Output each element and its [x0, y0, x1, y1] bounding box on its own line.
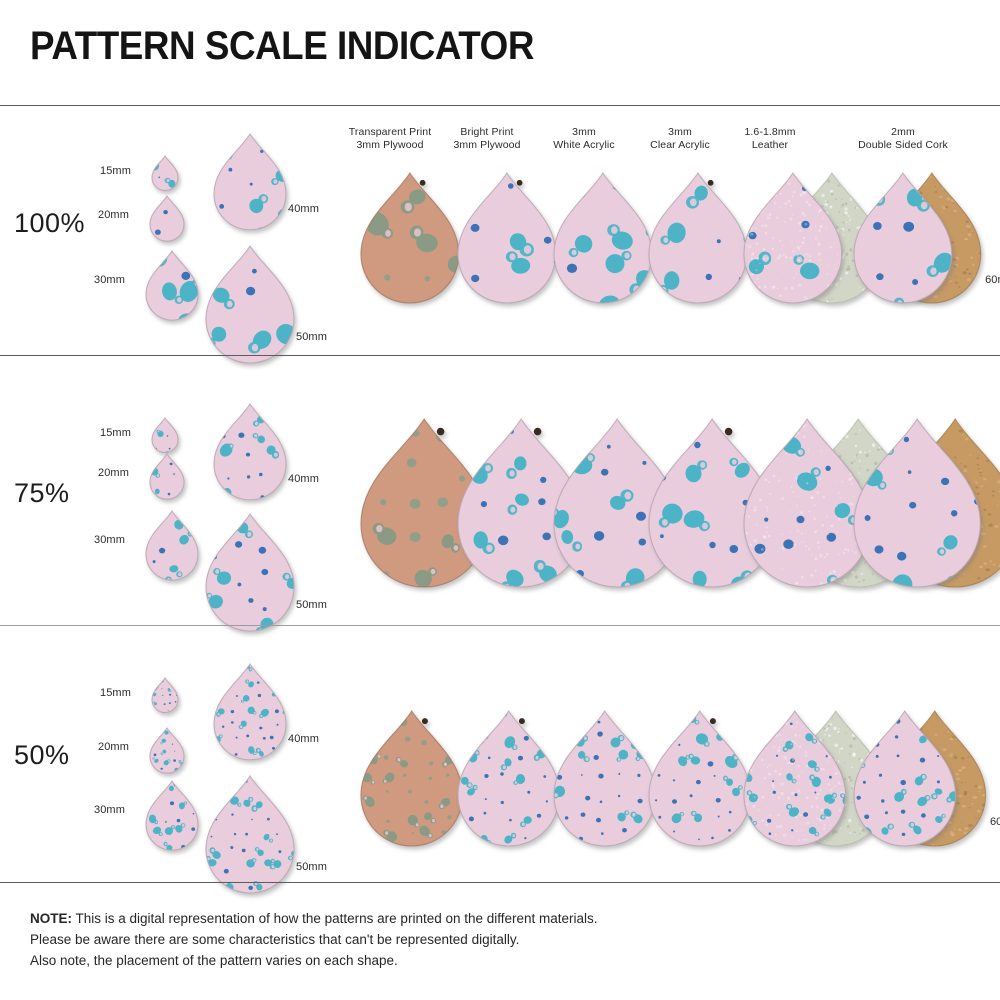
size-label-100-15mm: 15mm — [100, 165, 131, 177]
col-header-line2: Double Sided Cork — [838, 139, 968, 152]
divider-100 — [0, 355, 1000, 356]
scale-label-75: 75% — [14, 478, 70, 509]
material-drop-100-leather-front — [738, 167, 848, 309]
col-header-line2: Leather — [715, 139, 825, 152]
size-label-75-15mm: 15mm — [100, 427, 131, 439]
col-header-line2: 3mm Plywood — [335, 139, 445, 152]
size-label-100-50mm: 50mm — [296, 331, 327, 343]
material-drop-75-cork-front — [848, 413, 986, 593]
material-drop-100-cork-front — [848, 167, 958, 309]
material-drop-50-leather-front — [738, 705, 852, 852]
material-drop-100-white-acrylic — [548, 167, 658, 309]
size-label-100-30mm: 30mm — [94, 274, 125, 286]
note-line-3: Also note, the placement of the pattern … — [30, 950, 930, 971]
pattern-scale-indicator-page: PATTERN SCALE INDICATOR Transparent Prin… — [0, 0, 1000, 1000]
size-label-50-40mm: 40mm — [288, 733, 319, 745]
col-header-line2: White Acrylic — [530, 139, 638, 152]
col-header-line2: 3mm Plywood — [432, 139, 542, 152]
size-label-75-50mm: 50mm — [296, 599, 327, 611]
divider-75 — [0, 625, 1000, 626]
col-header-bright-print-plywood: Bright Print 3mm Plywood — [432, 126, 542, 152]
drop-75-30mm — [140, 505, 204, 586]
material-drop-50-cork-front — [848, 705, 962, 852]
size-label-100-60mm: 60mm — [985, 274, 1000, 286]
drop-50-15mm — [146, 672, 184, 719]
drop-100-40mm — [208, 128, 292, 236]
size-label-75-20mm: 20mm — [98, 467, 129, 479]
scale-label-50: 50% — [14, 740, 70, 771]
page-title: PATTERN SCALE INDICATOR — [30, 24, 534, 69]
drop-50-50mm — [200, 770, 300, 899]
col-header-leather: 1.6-1.8mm Leather — [715, 126, 825, 152]
drop-100-20mm — [144, 190, 190, 247]
drop-75-50mm — [200, 508, 300, 637]
note-line-2: Please be aware there are some character… — [30, 929, 930, 950]
size-label-50-15mm: 15mm — [100, 687, 131, 699]
col-header-white-acrylic: 3mm White Acrylic — [530, 126, 638, 152]
note-block: NOTE: This is a digital representation o… — [30, 908, 930, 971]
drop-50-40mm — [208, 658, 292, 766]
col-header-line1: 3mm — [530, 126, 638, 139]
size-label-50-50mm: 50mm — [296, 861, 327, 873]
divider-50 — [0, 882, 1000, 883]
col-header-transparent-print-plywood: Transparent Print 3mm Plywood — [335, 126, 445, 152]
col-header-line1: 1.6-1.8mm — [715, 126, 825, 139]
drop-100-50mm — [200, 240, 300, 369]
size-label-100-20mm: 20mm — [98, 209, 129, 221]
drop-75-40mm — [208, 398, 292, 506]
material-drop-100-clear-acrylic — [643, 167, 753, 309]
size-label-75-40mm: 40mm — [288, 473, 319, 485]
note-label: NOTE: — [30, 911, 72, 926]
material-drop-100-bright-print-plywood — [452, 167, 562, 309]
note-line-1-text: This is a digital representation of how … — [72, 911, 598, 926]
drop-50-20mm — [144, 722, 190, 779]
col-header-line1: 2mm — [838, 126, 968, 139]
size-label-50-60mm: 60mm — [990, 816, 1000, 828]
size-label-75-30mm: 30mm — [94, 534, 125, 546]
drop-75-20mm — [144, 448, 190, 505]
divider-top — [0, 105, 1000, 106]
col-header-line1: Transparent Print — [335, 126, 445, 139]
drop-50-30mm — [140, 775, 204, 856]
size-label-100-40mm: 40mm — [288, 203, 319, 215]
col-header-line1: Bright Print — [432, 126, 542, 139]
drop-100-30mm — [140, 245, 204, 326]
size-label-50-30mm: 30mm — [94, 804, 125, 816]
note-line-1: NOTE: This is a digital representation o… — [30, 908, 930, 929]
col-header-double-sided-cork: 2mm Double Sided Cork — [838, 126, 968, 152]
size-label-50-20mm: 20mm — [98, 741, 129, 753]
material-drop-100-transparent-print-plywood — [355, 167, 465, 309]
scale-label-100: 100% — [14, 208, 85, 239]
